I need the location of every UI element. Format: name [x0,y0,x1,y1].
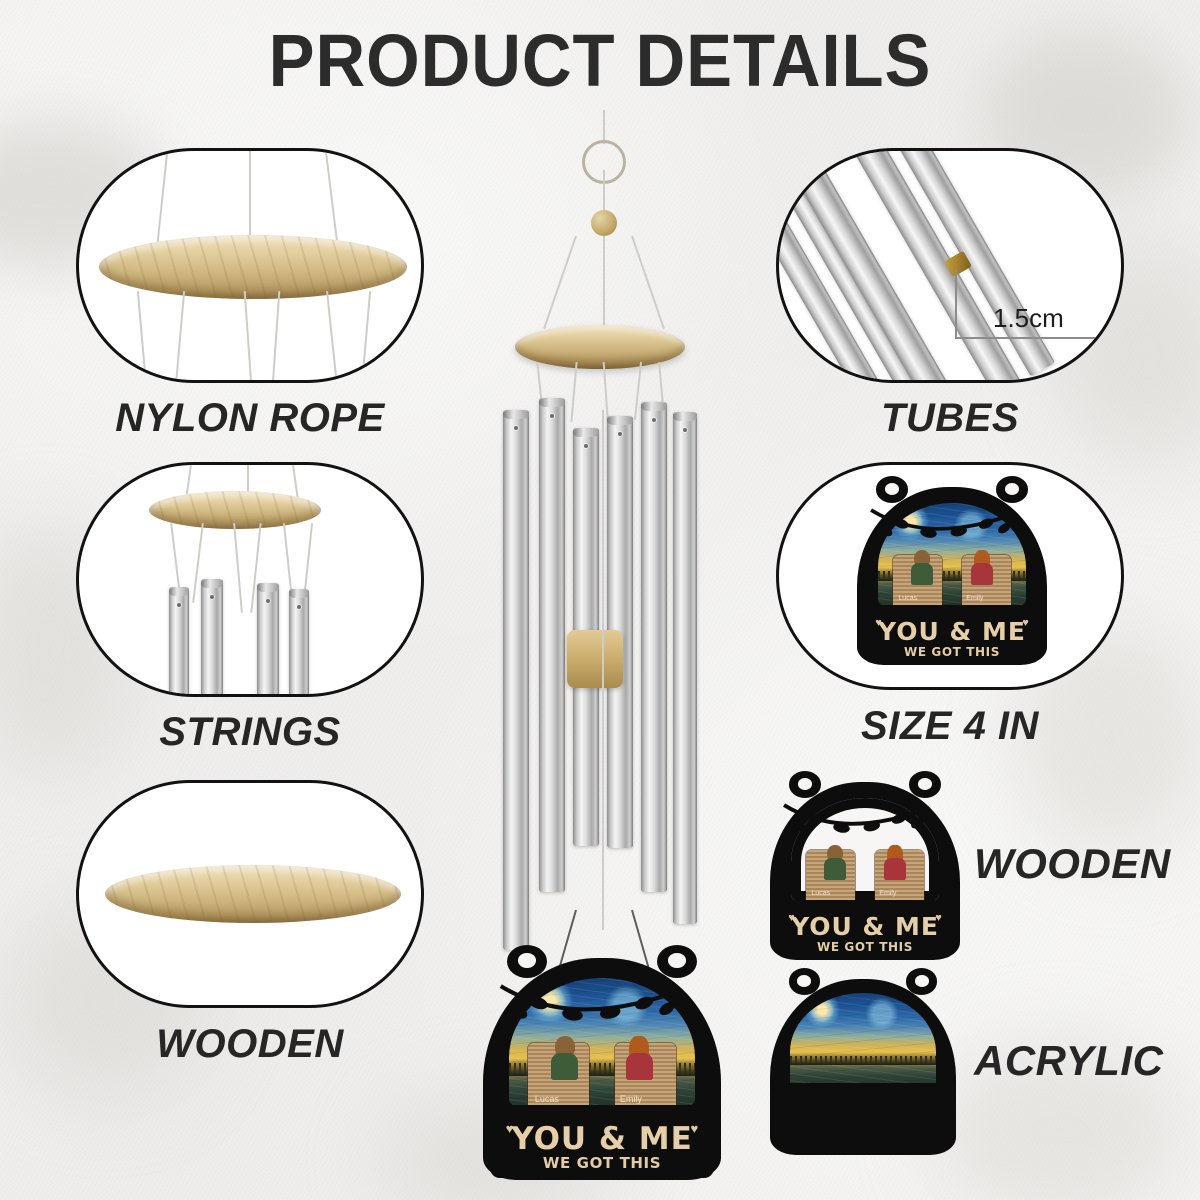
torso [971,563,993,585]
ornament-text-plate: Lucas Emily ♥ ♥ YOU & ME WE GOT THIS [490,1105,714,1178]
panel-wooden-ring: WOODEN [76,780,424,1080]
name-label-right: Emily [966,595,983,602]
rope-strand [361,291,371,383]
torso [551,1053,578,1080]
chime-tube [539,398,565,892]
wooden-ring [105,865,401,923]
name-label-right: Emily [620,1094,642,1104]
starry-swirl-texture [790,993,935,1088]
string-strand [233,523,243,613]
ornament-subline: WE GOT THIS [490,1154,714,1172]
wooden-ornament: Lucas Emily ♥ ♥ YOU & ME WE GOT THIS [770,782,960,960]
tube-cord [570,362,577,422]
chime-tube [201,579,223,697]
suspension-cord [543,236,577,329]
torso [911,563,933,585]
ornament-headline: YOU & ME [490,1121,714,1157]
ornament-scene [790,993,935,1088]
wood-grain [99,235,407,299]
chime-tube [169,587,189,697]
ornament-subline: WE GOT THIS [776,940,955,954]
person-figure-right [968,550,996,585]
wooden-ring-frame [76,780,424,1008]
dimension-leader-horizontal [955,337,1115,339]
wooden-ring [99,235,407,299]
acrylic-ornament [770,979,956,1155]
panel-caption-size: SIZE 4 IN [776,704,1124,749]
ornament-text-plate [776,1083,951,1153]
panel-caption-wooden-ring: WOODEN [76,1022,424,1067]
person-figure-left [908,550,936,585]
chime-tube [641,402,667,892]
tubes-frame: 1.5cm [776,148,1124,383]
panel-strings: STRINGS [76,462,424,762]
striker-cord [602,410,604,930]
name-label-left: Lucas [811,890,830,897]
person-figure-left [547,1036,583,1080]
ornament-hanger-hole [657,945,697,978]
dimension-leader-vertical [955,269,957,339]
page-title: PRODUCT DETAILS [42,18,1158,103]
person-figure-right [881,845,909,880]
torso [884,858,906,880]
chime-tube [257,583,279,697]
panel-caption-acrylic-ornament: ACRYLIC [974,1037,1163,1085]
hero-suncatcher-ornament: Lucas Emily ♥ ♥ YOU & ME WE GOT THIS [483,958,721,1180]
wooden-bead [591,210,617,236]
hanging-cord [603,110,605,144]
wood-grain [105,865,401,923]
name-label-left: Lucas [535,1094,559,1104]
ornament-headline: YOU & ME [776,912,955,941]
torso [626,1053,653,1080]
panel-acrylic-ornament: ACRYLIC [762,975,1192,1170]
rope-strand [326,291,338,383]
person-figure-right [621,1036,657,1080]
rope-strand [244,291,253,383]
ornament-text-plate: Lucas Emily ♥ ♥ YOU & ME WE GOT THIS [776,900,955,959]
suncatcher-ornament: Lucas Emily ♥ ♥ YOU & ME WE GOT THIS [857,487,1047,665]
rope-strand [175,291,185,383]
tube-dimension-label: 1.5cm [993,303,1064,334]
wooden-striker [567,630,623,688]
panel-nylon-rope: NYLON ROPE [76,148,424,448]
panel-caption-strings: STRINGS [76,710,424,755]
hanging-cord [603,236,605,328]
chime-tube [673,412,697,924]
rope-strand [156,151,168,251]
wind-chime-hero: Lucas Emily ♥ ♥ YOU & ME WE GOT THIS [455,110,745,1190]
nylon-rope-frame [76,148,424,383]
rope-strand [137,291,147,383]
scene-treeline [790,1056,935,1066]
suspension-cord [631,236,665,329]
name-label-right: Emily [879,890,896,897]
ornament-subline: WE GOT THIS [863,645,1042,659]
ornament-headline: YOU & ME [863,617,1042,646]
panel-caption-wooden-ornament: WOODEN [974,840,1171,888]
chime-tube [503,410,529,950]
name-label-left: Lucas [898,595,917,602]
size-frame: Lucas Emily ♥ ♥ YOU & ME WE GOT THIS [776,462,1124,690]
person-figure-left [821,845,849,880]
rope-strand [325,151,339,250]
ornament-text-plate: Lucas Emily ♥ ♥ YOU & ME WE GOT THIS [863,605,1042,664]
panel-tubes: 1.5cm TUBES [776,148,1124,448]
panel-caption-tubes: TUBES [776,396,1124,441]
chime-tube [289,589,309,697]
panel-size: Lucas Emily ♥ ♥ YOU & ME WE GOT THIS SIZ… [776,462,1124,762]
panel-caption-nylon-rope: NYLON ROPE [76,396,424,441]
strings-frame [76,462,424,697]
torso [824,858,846,880]
rope-strand [272,291,281,383]
panel-wooden-ornament: Lucas Emily ♥ ♥ YOU & ME WE GOT THIS WOO… [762,778,1192,968]
infographic-canvas: PRODUCT DETAILS NYLON ROPE [0,0,1200,1200]
hanging-cord [603,170,605,214]
